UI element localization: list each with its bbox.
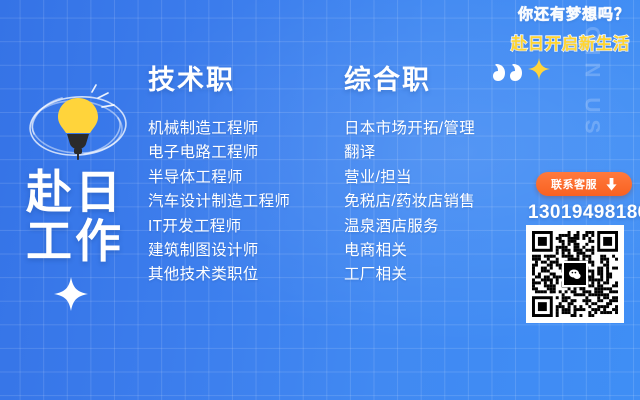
list-item: 汽车设计制造工程师 [148, 190, 290, 214]
general-job-list: 日本市场开拓/管理 翻译 营业/担当 免税店/药妆店销售 温泉酒店服务 电商相关… [344, 117, 475, 288]
list-item: 日本市场开拓/管理 [344, 117, 475, 141]
phone-number[interactable]: 13019498186 [528, 202, 636, 224]
list-item: 电子电路工程师 [148, 141, 290, 165]
list-item: 工厂相关 [344, 263, 475, 287]
list-item: 机械制造工程师 [148, 117, 290, 141]
slogan-line-2: 赴日开启新生活 [511, 30, 630, 54]
list-item: 免税店/药妆店销售 [344, 190, 475, 214]
quote-mark-icon [492, 60, 526, 84]
qr-code-pattern [532, 231, 618, 317]
sparkle-star-icon [52, 275, 90, 313]
slogan-block: 你还有梦想吗？ 赴日开启新生活 [511, 3, 630, 54]
list-item: 翻译 [344, 141, 475, 165]
list-item: 温泉酒店服务 [344, 215, 475, 239]
contact-support-button[interactable]: 联系客服 [536, 172, 632, 196]
column-heading-general: 综合职 [344, 58, 475, 97]
four-point-star-icon [528, 58, 550, 80]
arrow-down-icon [606, 178, 617, 191]
poster-root: 赴日 工作 技术职 机械制造工程师 电子电路工程师 半导体工程师 汽车设计制造工… [0, 0, 640, 400]
slogan-line-1: 你还有梦想吗？ [511, 3, 630, 24]
list-item: 营业/担当 [344, 166, 475, 190]
column-general-jobs: 综合职 日本市场开拓/管理 翻译 营业/担当 免税店/药妆店销售 温泉酒店服务 … [344, 58, 475, 288]
list-item: 其他技术类职位 [148, 263, 290, 287]
lightbulb-icon [22, 82, 134, 168]
contact-support-label: 联系客服 [551, 176, 597, 192]
join-us-watermark: JOIN US [579, 7, 603, 140]
column-technical-jobs: 技术职 机械制造工程师 电子电路工程师 半导体工程师 汽车设计制造工程师 IT开… [148, 58, 290, 288]
qr-center-logo [562, 261, 588, 287]
list-item: 半导体工程师 [148, 166, 290, 190]
list-item: 电商相关 [344, 239, 475, 263]
qr-code-icon[interactable] [526, 225, 624, 323]
page-title: 赴日 工作 [26, 168, 124, 266]
list-item: IT开发工程师 [148, 215, 290, 239]
list-item: 建筑制图设计师 [148, 239, 290, 263]
column-heading-technical: 技术职 [148, 58, 290, 97]
technical-job-list: 机械制造工程师 电子电路工程师 半导体工程师 汽车设计制造工程师 IT开发工程师… [148, 117, 290, 288]
